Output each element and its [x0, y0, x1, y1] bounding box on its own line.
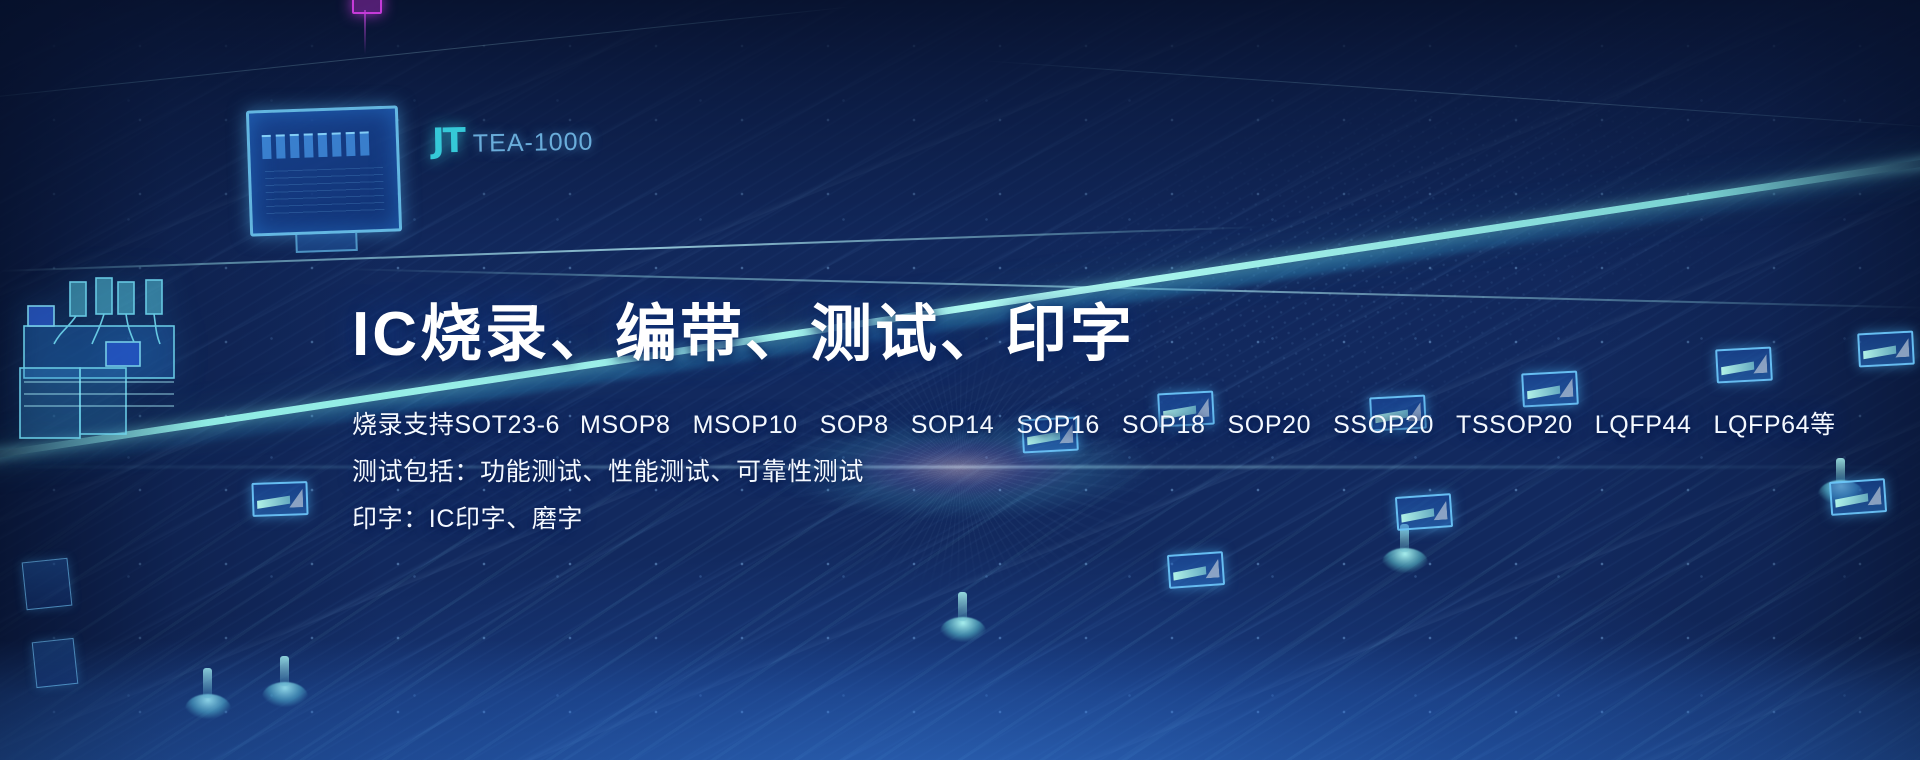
package-sop18: SOP18	[1122, 413, 1206, 438]
equipment-logo: JT TEA-1000	[432, 119, 594, 162]
indicator-stem	[364, 10, 366, 54]
panel-glyph-5	[1715, 347, 1773, 384]
floor-band	[0, 640, 1920, 760]
panel-glyph-10	[1167, 551, 1225, 589]
rail-post-3	[958, 592, 967, 621]
service-detail-list: 烧录支持SOT23-6MSOP8MSOP10SOP8SOP14SOP16SOP1…	[352, 413, 1612, 532]
banner-headline: IC烧录、编带、测试、印字	[352, 300, 1612, 369]
equipment-logo-mark: JT	[432, 121, 465, 162]
package-ssop20: SSOP20	[1333, 413, 1434, 438]
rail-foot-4	[1382, 548, 1428, 578]
package-lqfp64: LQFP64等	[1713, 413, 1835, 438]
ic-service-banner: JT TEA-1000 IC烧录、编带、测试、印字 烧录支持SOT23-6MSO…	[0, 0, 1920, 760]
banner-content: IC烧录、编带、测试、印字 烧录支持SOT23-6MSOP8MSOP10SOP8…	[352, 300, 1612, 532]
monitor-data-rows	[265, 167, 385, 217]
monitor-stand	[295, 233, 358, 253]
package-msop8: MSOP8	[580, 413, 671, 438]
test-handler-machine-icon	[10, 270, 200, 450]
package-sop8: SOP8	[820, 413, 889, 438]
monitor-chip-row	[262, 131, 370, 159]
service-line-burn: 烧录支持SOT23-6MSOP8MSOP10SOP8SOP14SOP16SOP1…	[352, 413, 1612, 438]
package-sop16: SOP16	[1016, 413, 1100, 438]
panel-glyph-6	[1857, 331, 1915, 368]
floor-slab-2	[32, 638, 79, 688]
package-msop10: MSOP10	[693, 413, 798, 438]
panel-glyph-9	[251, 481, 308, 517]
package-sop14: SOP14	[911, 413, 995, 438]
service-line-marking: 印字：IC印字、磨字	[352, 507, 1612, 532]
magenta-indicator-tag	[352, 0, 382, 14]
package-lqfp44: LQFP44	[1595, 413, 1692, 438]
control-monitor	[246, 105, 402, 236]
package-sop20: SOP20	[1228, 413, 1312, 438]
package-tssop20: TSSOP20	[1456, 413, 1573, 438]
floor-slab-1	[22, 558, 73, 611]
panel-glyph-8	[1829, 478, 1887, 516]
equipment-logo-model: TEA-1000	[473, 128, 594, 159]
monitor-screen	[246, 105, 402, 236]
service-line-test: 测试包括：功能测试、性能测试、可靠性测试	[352, 460, 1612, 485]
package-support-row: 烧录支持SOT23-6MSOP8MSOP10SOP8SOP14SOP16SOP1…	[352, 413, 1836, 438]
burn-lead-label: 烧录支持SOT23-6	[352, 413, 560, 438]
